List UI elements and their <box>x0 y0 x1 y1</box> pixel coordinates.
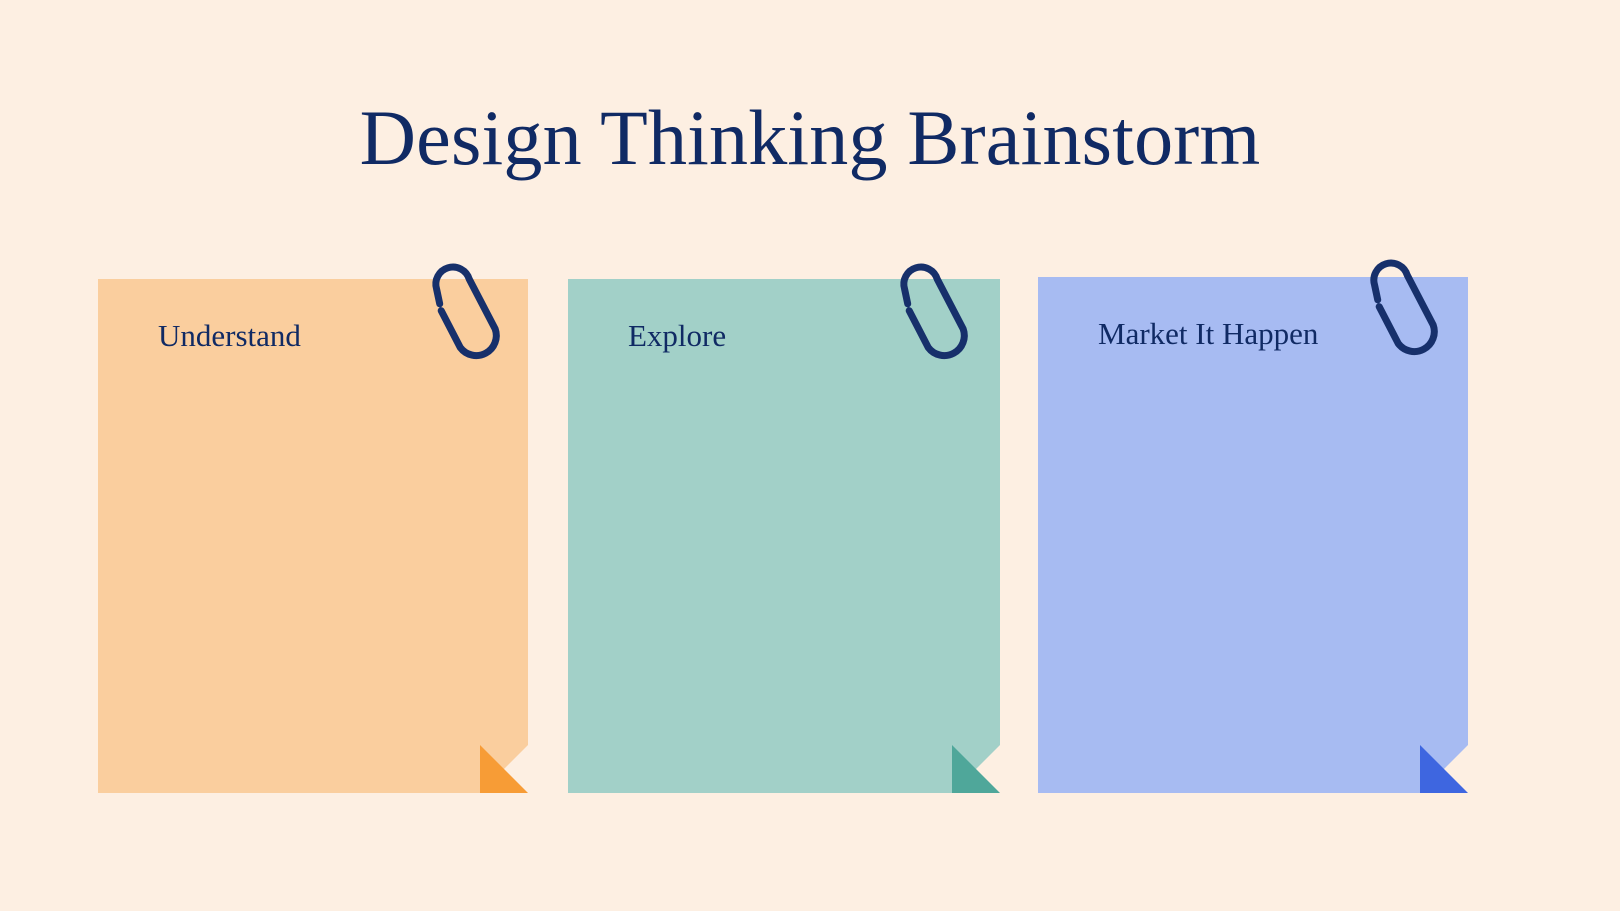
note-card-label: Market It Happen <box>1098 315 1318 353</box>
paperclip-icon[interactable] <box>888 251 984 363</box>
note-card-market-it-happen[interactable]: Market It Happen <box>1038 277 1468 793</box>
note-card-explore[interactable]: Explore <box>568 279 1000 793</box>
note-card-understand[interactable]: Understand <box>98 279 528 793</box>
page-title: Design Thinking Brainstorm <box>0 92 1620 184</box>
paperclip-icon[interactable] <box>420 251 516 363</box>
slide-canvas: Design Thinking Brainstorm Understand Ex… <box>0 0 1620 911</box>
note-card-label: Understand <box>158 317 301 355</box>
paperclip-icon[interactable] <box>1358 247 1454 359</box>
note-card-label: Explore <box>628 317 726 355</box>
